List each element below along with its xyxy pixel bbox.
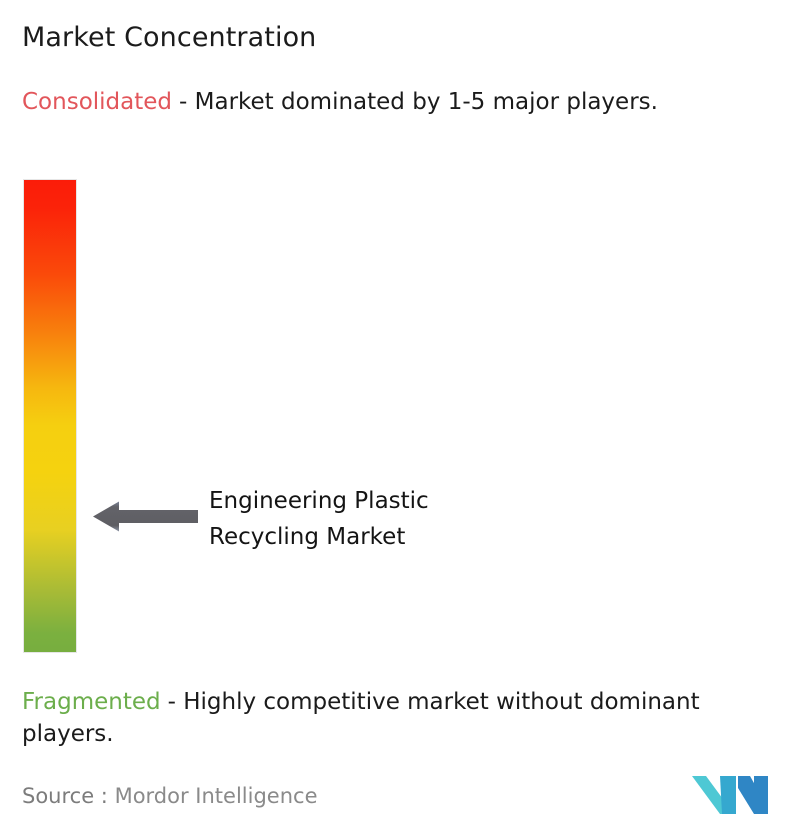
source-value: Mordor Intelligence (115, 784, 318, 808)
source-attribution: Source : Mordor Intelligence (22, 782, 317, 810)
legend-consolidated: Consolidated- Market dominated by 1-5 ma… (22, 86, 770, 118)
legend-key-fragmented: Fragmented (22, 689, 161, 715)
footer-divider (0, 766, 796, 767)
legend-description-consolidated: - Market dominated by 1-5 major players. (179, 89, 658, 115)
legend-key-consolidated: Consolidated (22, 89, 172, 115)
legend-fragmented: Fragmented- Highly competitive market wi… (22, 686, 790, 750)
marker-label: Engineering Plastic Recycling Market (209, 483, 429, 555)
market-concentration-scale-bar (24, 180, 76, 652)
market-concentration-chart: Market Concentration Consolidated- Marke… (0, 0, 796, 834)
source-label: Source : (22, 784, 108, 808)
page-title: Market Concentration (22, 21, 316, 55)
marker-label-line-1: Engineering Plastic (209, 483, 429, 519)
marker-arrow-icon (93, 501, 198, 532)
mordor-intelligence-logo-icon (692, 770, 768, 816)
marker-label-line-2: Recycling Market (209, 519, 429, 555)
